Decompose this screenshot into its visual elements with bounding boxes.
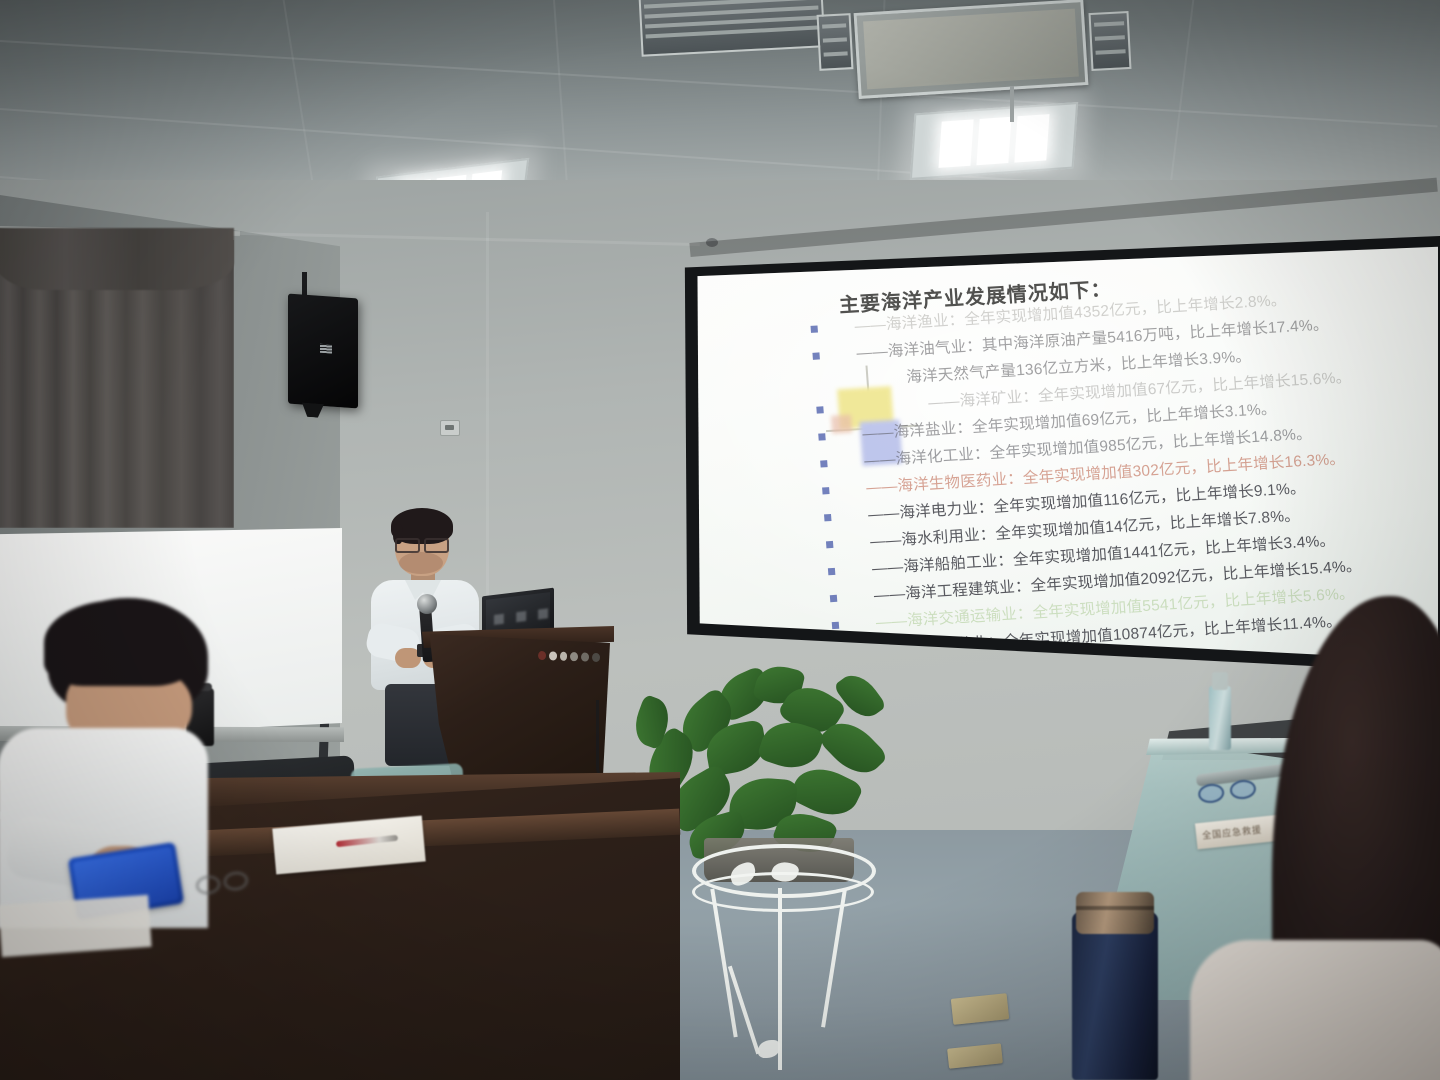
ceiling-light-panel-right <box>910 102 1078 180</box>
air-vent-inner-left <box>817 13 854 71</box>
slide-bullet <box>822 487 829 494</box>
presenter-face-shadow <box>399 552 443 574</box>
vacuum-flask-cap <box>1076 892 1154 934</box>
glasses-icon <box>395 538 449 549</box>
microphone-head-icon <box>417 594 437 614</box>
slide-bullet <box>811 325 818 332</box>
water-bottle <box>1209 686 1231 750</box>
air-conditioner-unit <box>854 0 1089 99</box>
attendee-hair-top <box>44 600 194 686</box>
curtain-valance <box>0 228 234 290</box>
wall-speaker <box>288 294 358 409</box>
slide-bullet <box>828 568 835 575</box>
slide-bullet <box>832 622 839 629</box>
vacuum-flask <box>1072 912 1158 1080</box>
podium-control-buttons[interactable] <box>538 651 600 664</box>
nameplate-text: 全国应急救援 <box>1202 823 1263 842</box>
conference-room-photo: 主要海洋产业发展情况如下： ——海洋渔业：全年实现增加值4352亿元，比上年增长… <box>0 0 1440 1080</box>
slide-bullet <box>818 433 825 440</box>
slide-bullet <box>826 541 833 548</box>
slide-bullet <box>816 406 823 413</box>
plant-stand-foot <box>758 1040 780 1058</box>
air-vent-right <box>1089 11 1132 71</box>
laptop-screen-content <box>494 608 550 625</box>
plant-stand-leg <box>710 889 737 1038</box>
papers <box>0 895 152 957</box>
speaker-logo-icon <box>320 344 332 354</box>
slide-bullet <box>824 514 831 521</box>
air-vent-left <box>639 0 826 57</box>
wall-outlet <box>440 420 460 436</box>
slide-bullet <box>830 595 837 602</box>
projection-screen: 主要海洋产业发展情况如下： ——海洋渔业：全年实现增加值4352亿元，比上年增长… <box>690 245 1438 677</box>
attendee-right-shoulder <box>1190 940 1440 1080</box>
slide-bullet <box>820 460 827 467</box>
presentation-slide: 主要海洋产业发展情况如下： ——海洋渔业：全年实现增加值4352亿元，比上年增长… <box>808 253 1438 650</box>
light-hanger <box>1010 86 1014 122</box>
slide-bullet <box>812 352 819 359</box>
